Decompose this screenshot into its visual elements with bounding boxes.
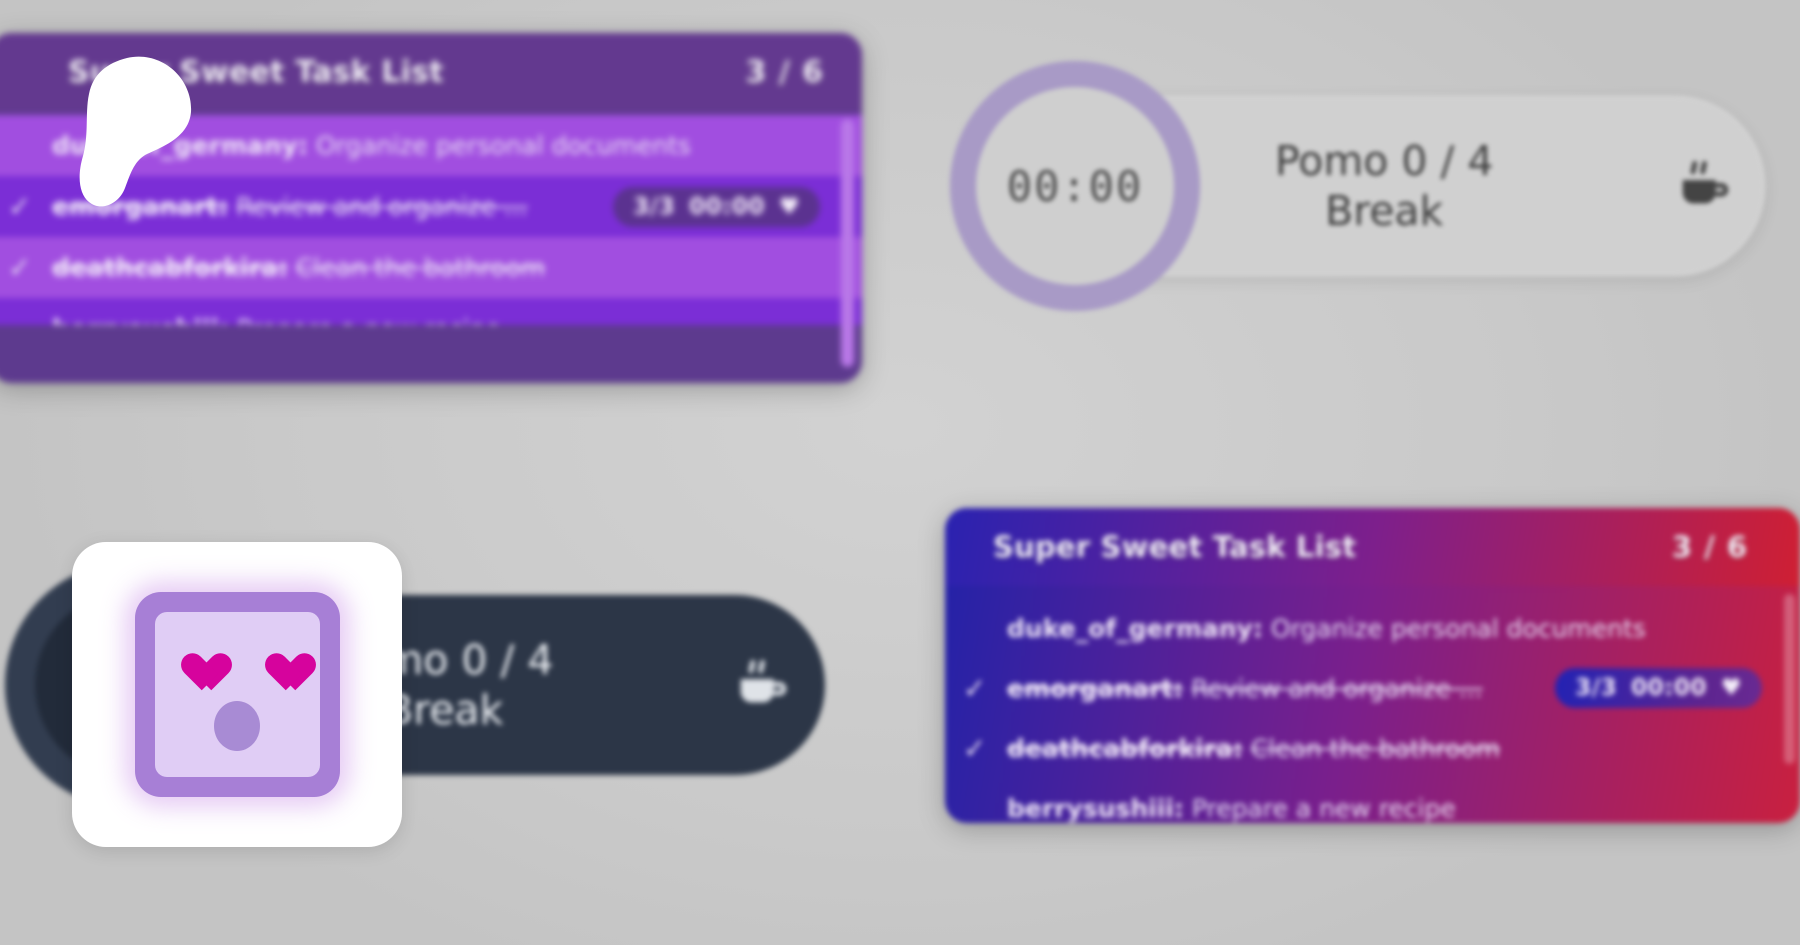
task-list-title: Super Sweet Task List — [993, 530, 1356, 564]
emoji-preview-tile[interactable] — [72, 542, 402, 847]
timer-ring[interactable]: 00:00 — [950, 61, 1200, 311]
task-check-icon: ✓ — [963, 672, 1007, 705]
task-description: Review and organize ... — [236, 192, 528, 221]
task-list-footer — [0, 325, 862, 383]
task-row[interactable]: berrysushiii: Prepare a new recipe — [945, 778, 1800, 823]
task-user: deathcabforkira: — [1007, 734, 1243, 763]
task-user: berrysushiii: — [1007, 794, 1184, 823]
task-row[interactable]: duke_of_germany: Organize personal docum… — [945, 598, 1800, 658]
task-user: emorganart: — [1007, 674, 1183, 703]
task-list-card-purple[interactable]: Super Sweet Task List 3 / 6 duke_of_germ… — [0, 33, 862, 383]
face-inner — [155, 612, 320, 777]
task-badge-time: 00:00 — [1631, 675, 1707, 701]
timer-time: 00:00 — [1007, 162, 1143, 211]
task-list-body: duke_of_germany: Organize personal docum… — [0, 111, 862, 359]
task-badge-time: 00:00 — [689, 194, 765, 220]
task-row-text: emorganart: Review and organize ... — [1007, 674, 1483, 703]
coffee-cup-icon — [1675, 153, 1737, 219]
task-list-header: Super Sweet Task List 3 / 6 — [945, 508, 1800, 586]
coffee-cup-icon — [733, 652, 795, 718]
task-list-scrollbar[interactable] — [841, 119, 854, 367]
task-list-body: duke_of_germany: Organize personal docum… — [945, 586, 1800, 823]
task-badge: 3/3 00:00 ♥ — [613, 187, 820, 227]
task-row-text: deathcabforkira: Clean the bathroom — [1007, 734, 1500, 763]
task-row-text: duke_of_germany: Organize personal docum… — [52, 131, 691, 160]
task-description: Clean the bathroom — [1251, 734, 1500, 763]
heart-eye-right-icon — [257, 638, 302, 679]
task-description: Prepare a new recipe — [1192, 794, 1456, 823]
task-user: emorganart: — [52, 192, 228, 221]
task-list-header: Super Sweet Task List 3 / 6 — [0, 33, 862, 111]
task-description: Review and organize ... — [1191, 674, 1483, 703]
task-badge-progress: 3/3 — [633, 194, 675, 220]
task-row-text: deathcabforkira: Clean the bathroom — [52, 253, 545, 282]
task-user: deathcabforkira: — [52, 253, 288, 282]
pomo-count-label: Pomo 0 / 4 — [1275, 136, 1493, 186]
task-description: Clean the bathroom — [296, 253, 545, 282]
face-mouth — [214, 701, 260, 751]
pomo-phase-label: Break — [385, 685, 503, 735]
task-list-card-gradient[interactable]: Super Sweet Task List 3 / 6 duke_of_germ… — [945, 508, 1800, 823]
task-row[interactable]: ✓ emorganart: Review and organize ... 3/… — [945, 658, 1800, 718]
heart-eyes-face-icon — [135, 592, 340, 797]
task-row-text: duke_of_germany: Organize personal docum… — [1007, 614, 1646, 643]
task-check-icon: ✓ — [8, 190, 52, 223]
pomodoro-timer-light[interactable]: 00:00 Pomo 0 / 4 Break — [975, 96, 1765, 276]
pomo-phase-label: Break — [1325, 186, 1443, 236]
heart-icon: ♥ — [779, 194, 800, 220]
task-description: Organize personal documents — [1271, 614, 1646, 643]
task-description: Organize personal documents — [316, 131, 691, 160]
task-check-icon: ✓ — [8, 251, 52, 284]
task-list-scrollbar[interactable] — [1784, 594, 1795, 764]
task-user: duke_of_germany: — [52, 131, 308, 160]
task-row[interactable]: ✓ deathcabforkira: Clean the bathroom — [0, 237, 862, 298]
task-row[interactable]: ✓ emorganart: Review and organize ... 3/… — [0, 176, 862, 237]
task-list-count: 3 / 6 — [1672, 530, 1748, 564]
timer-labels: Pomo 0 / 4 Break — [1275, 136, 1493, 236]
task-list-count: 3 / 6 — [745, 55, 824, 90]
task-badge-progress: 3/3 — [1575, 675, 1617, 701]
task-user: duke_of_germany: — [1007, 614, 1263, 643]
task-row-text: berrysushiii: Prepare a new recipe — [1007, 794, 1456, 823]
heart-icon: ♥ — [1721, 675, 1742, 701]
task-row-text: emorganart: Review and organize ... — [52, 192, 528, 221]
task-row[interactable]: ✓ deathcabforkira: Clean the bathroom — [945, 718, 1800, 778]
task-badge: 3/3 00:00 ♥ — [1555, 668, 1762, 708]
task-row[interactable]: duke_of_germany: Organize personal docum… — [0, 115, 862, 176]
task-check-icon: ✓ — [963, 732, 1007, 765]
task-list-title: Super Sweet Task List — [68, 55, 444, 90]
heart-eye-left-icon — [173, 638, 218, 679]
